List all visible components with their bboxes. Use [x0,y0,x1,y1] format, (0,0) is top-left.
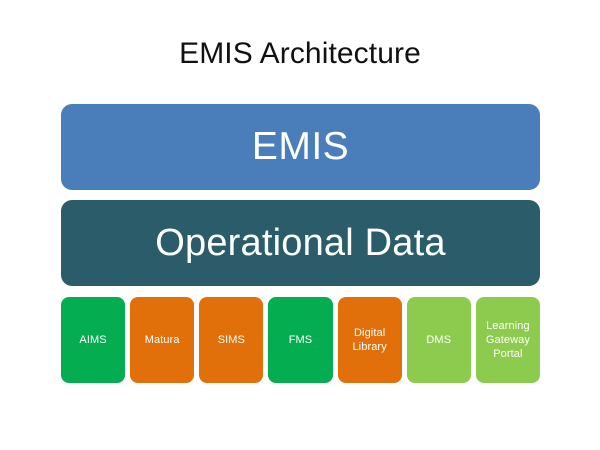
source-label-aims: AIMS [79,333,106,347]
diagram-slide: EMIS Architecture EMIS Operational Data … [0,0,600,450]
source-label-fms: FMS [289,333,313,347]
source-label-matura: Matura [145,333,180,347]
page-title: EMIS Architecture [0,34,600,74]
source-box-sims[interactable]: SIMS [199,297,263,383]
source-box-dms[interactable]: DMS [407,297,471,383]
source-box-fms[interactable]: FMS [268,297,332,383]
source-label-digital-library: Digital Library [352,326,386,354]
layer-box-operational-data[interactable]: Operational Data [61,200,540,286]
source-label-learning-gateway-portal: Learning Gateway Portal [486,319,530,361]
source-box-digital-library[interactable]: Digital Library [338,297,402,383]
source-systems-row: AIMS Matura SIMS FMS Digital Library DMS… [61,297,540,383]
layer-label-operational-data: Operational Data [155,222,445,264]
source-label-sims: SIMS [218,333,245,347]
layer-label-emis: EMIS [252,125,349,169]
layer-box-emis[interactable]: EMIS [61,104,540,190]
source-label-dms: DMS [426,333,451,347]
source-box-matura[interactable]: Matura [130,297,194,383]
source-box-aims[interactable]: AIMS [61,297,125,383]
source-box-learning-gateway-portal[interactable]: Learning Gateway Portal [476,297,540,383]
